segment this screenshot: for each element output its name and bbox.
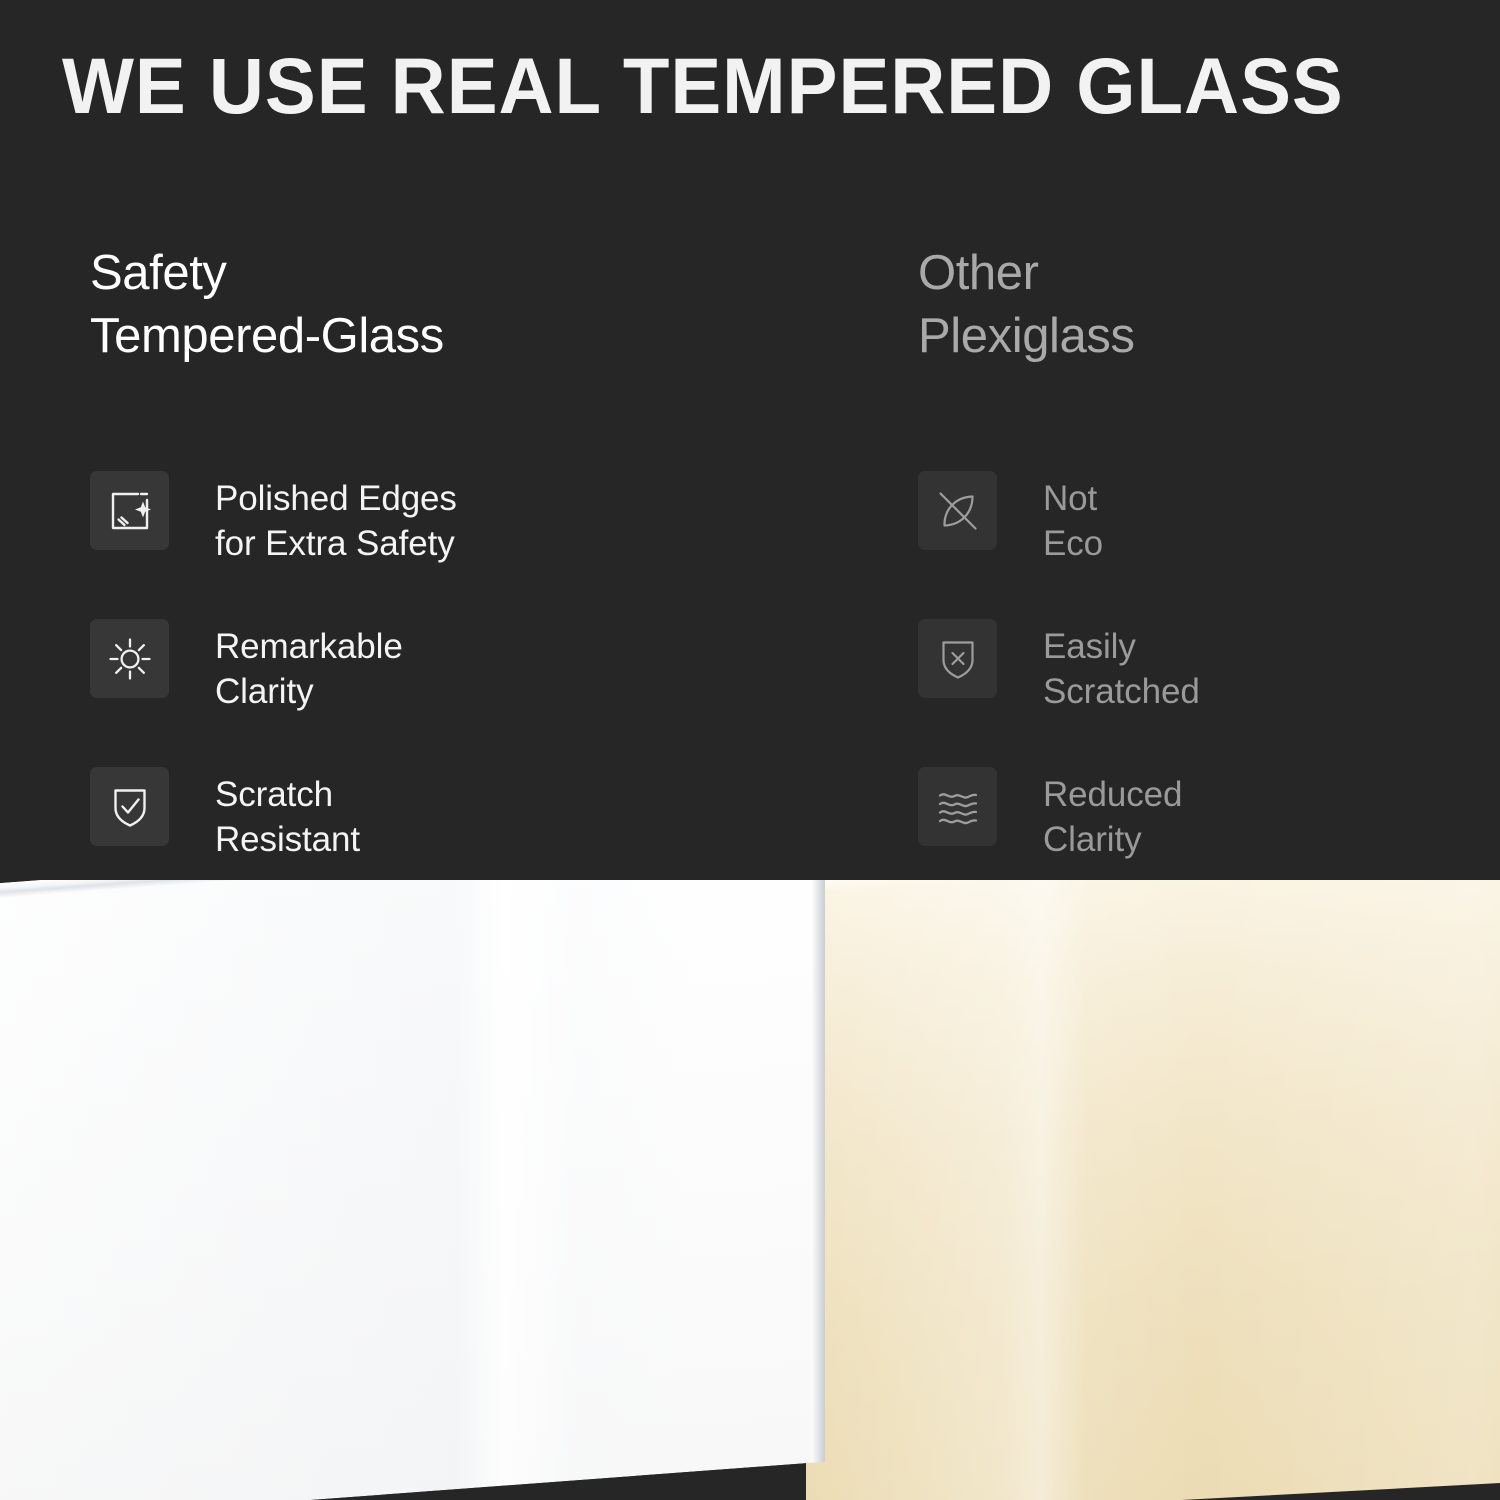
- feature-list-safety: Polished Edges for Extra Safety Remarkab…: [90, 470, 850, 914]
- plexiglass-panel: [806, 880, 1500, 1500]
- feature-row-polished-edges: Polished Edges for Extra Safety: [90, 470, 850, 618]
- column-heading-other: Other Plexiglass: [918, 242, 1478, 368]
- wavy-lines-icon: [918, 767, 997, 846]
- leaf-slashed-icon: [918, 471, 997, 550]
- feature-row-not-eco: Not Eco: [918, 470, 1478, 618]
- feature-row-remarkable-clarity: Remarkable Clarity: [90, 618, 850, 766]
- feature-label-polished-edges: Polished Edges for Extra Safety: [215, 470, 457, 566]
- tempered-glass-panel: [0, 880, 825, 1500]
- column-safety-tempered-glass: Safety Tempered-Glass Polished Edges for…: [90, 242, 850, 368]
- feature-label-easily-scratched: Easily Scratched: [1043, 618, 1200, 714]
- feature-row-easily-scratched: Easily Scratched: [918, 618, 1478, 766]
- comparison-infographic: WE USE REAL TEMPERED GLASS Safety Temper…: [0, 0, 1500, 1500]
- column-heading-safety: Safety Tempered-Glass: [90, 242, 850, 368]
- column-other-plexiglass: Other Plexiglass Not Eco: [918, 242, 1478, 368]
- shield-check-icon: [90, 767, 169, 846]
- sun-brightness-icon: [90, 619, 169, 698]
- polished-glass-panel-icon: [90, 471, 169, 550]
- feature-label-reduced-clarity: Reduced Clarity: [1043, 766, 1182, 862]
- feature-label-not-eco: Not Eco: [1043, 470, 1103, 566]
- feature-label-scratch-resistant: Scratch Resistant: [215, 766, 360, 862]
- page-title: WE USE REAL TEMPERED GLASS: [62, 38, 1403, 134]
- product-photo: [0, 880, 1500, 1500]
- feature-label-remarkable-clarity: Remarkable Clarity: [215, 618, 403, 714]
- feature-list-plexiglass: Not Eco Easily Scratched: [918, 470, 1478, 914]
- shield-x-icon: [918, 619, 997, 698]
